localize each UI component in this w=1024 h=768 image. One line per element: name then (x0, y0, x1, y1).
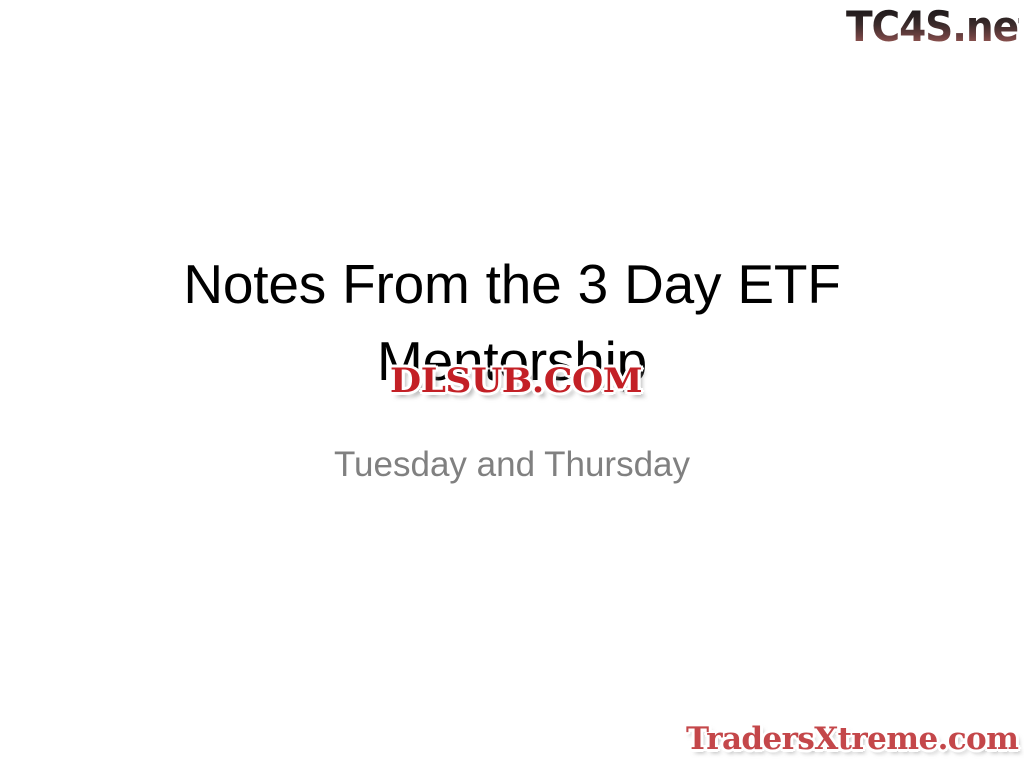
tradersxtreme-watermark: TradersXtreme.com (686, 716, 1018, 762)
dlsub-watermark: DLSUB.COM (358, 358, 674, 404)
slide-subtitle: Tuesday and Thursday (96, 443, 928, 487)
dlsub-watermark-text: DLSUB.COM (390, 361, 642, 401)
tc4s-logo: TC4S.net (846, 2, 1019, 52)
presentation-slide: TC4S.net Notes From the 3 Day ETF Mentor… (0, 0, 1024, 768)
subtitle-placeholder: Tuesday and Thursday (96, 443, 928, 487)
